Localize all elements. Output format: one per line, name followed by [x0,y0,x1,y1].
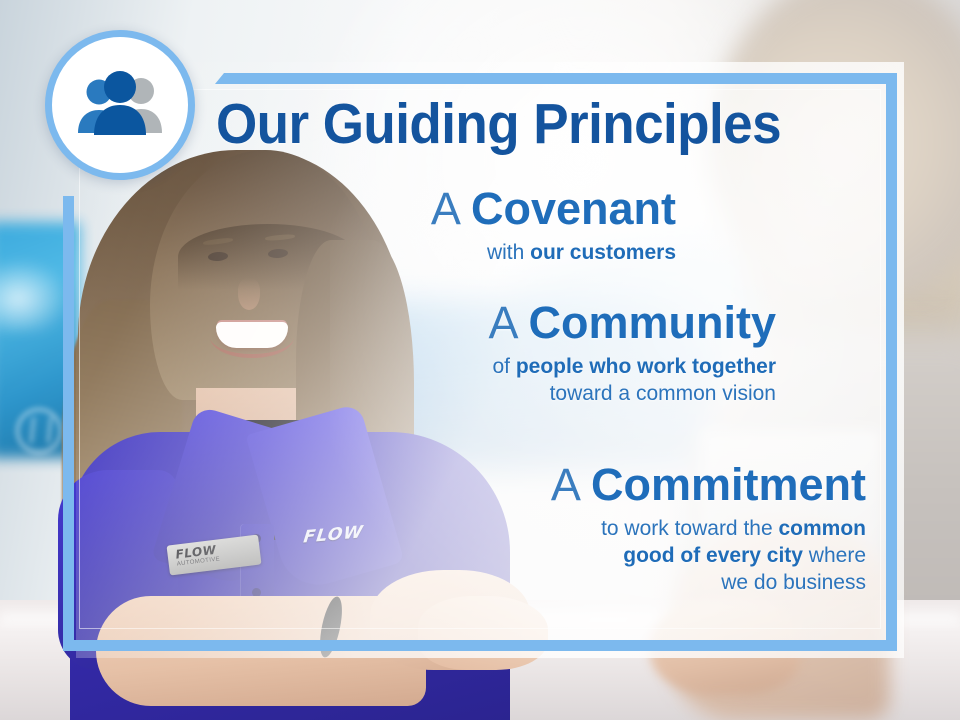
principle-heading-commitment: A Commitment [356,462,866,508]
principle-article-covenant: A [431,183,459,234]
poster-canvas: FLOW FLOW AUTOMOTIVE Smiling woman assoc… [0,0,960,720]
principle-article-commitment: A [551,459,579,510]
principle-keyword-covenant: Covenant [471,183,676,234]
frame-border-bottom [63,640,897,651]
principle-subtext-covenant: with our customers [276,240,676,267]
principle-subtext-commitment: to work toward the commongood of every c… [356,516,866,597]
principle-article-community: A [488,297,516,348]
principle-block-community: A Community of people who work togethert… [316,300,776,408]
principle-heading-covenant: A Covenant [276,186,676,232]
principle-heading-community: A Community [316,300,776,346]
people-group-icon [74,71,166,139]
frame-border-top [215,73,897,84]
principle-keyword-commitment: Commitment [591,459,866,510]
principle-block-covenant: A Covenant with our customers [276,186,676,267]
principle-keyword-community: Community [529,297,777,348]
principle-subtext-community: of people who work togethertoward a comm… [316,354,776,408]
frame-border-right [886,73,897,651]
frame-border-left [63,196,74,651]
principle-block-commitment: A Commitment to work toward the commongo… [356,462,866,597]
page-title: Our Guiding Principles [216,96,821,153]
principles-badge [45,30,195,180]
